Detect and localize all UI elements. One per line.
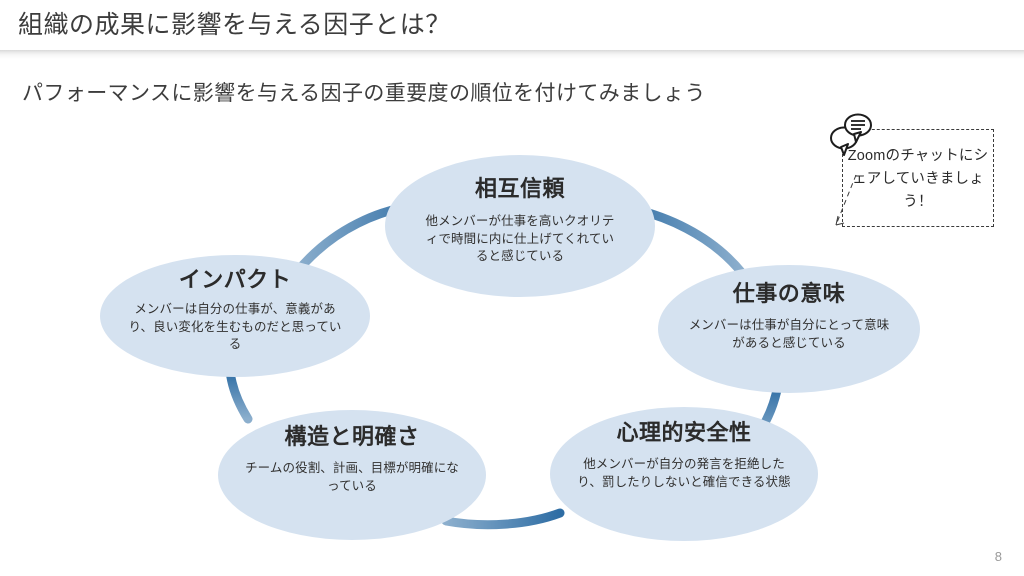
cycle-node-title: 構造と明確さ — [218, 424, 486, 450]
cycle-node-title: インパクト — [100, 267, 370, 293]
cycle-node-title: 心理的安全性 — [550, 420, 818, 446]
chat-bubbles-icon — [826, 111, 878, 161]
page-number: 8 — [995, 549, 1002, 564]
slide-subtitle: パフォーマンスに影響を与える因子の重要度の順位を付けてみましょう — [22, 79, 706, 109]
slide-canvas: 組織の成果に影響を与える因子とは？ パフォーマンスに影響を与える因子の重要度の順… — [0, 0, 1024, 576]
cycle-node-body: メンバーは自分の仕事が、意義があり、良い変化を生むものだと思っている — [100, 301, 370, 354]
cycle-node-psychological-safety[interactable]: 心理的安全性 他メンバーが自分の発言を拒絶したり、罰したりしないと確信できる状態 — [550, 407, 818, 541]
cycle-node-body: メンバーは仕事が自分にとって意味があると感じている — [658, 317, 920, 352]
callout-tail — [832, 171, 858, 233]
arc-structure-to-impact — [230, 371, 248, 419]
page-title: 組織の成果に影響を与える因子とは？ — [18, 8, 451, 42]
title-divider — [0, 50, 1024, 59]
cycle-node-structure-and-clarity[interactable]: 構造と明確さ チームの役割、計画、目標が明確になっている — [218, 410, 486, 540]
cycle-diagram: 相互信頼 他メンバーが仕事を高いクオリティで時間に内に仕上げてくれていると感じて… — [88, 145, 848, 555]
cycle-node-impact[interactable]: インパクト メンバーは自分の仕事が、意義があり、良い変化を生むものだと思っている — [100, 255, 370, 377]
cycle-node-title: 仕事の意味 — [658, 281, 920, 307]
cycle-node-body: 他メンバーが仕事を高いクオリティで時間に内に仕上げてくれていると感じている — [385, 213, 655, 266]
cycle-node-meaning-of-work[interactable]: 仕事の意味 メンバーは仕事が自分にとって意味があると感じている — [658, 265, 920, 393]
arc-safety-to-structure — [446, 513, 560, 525]
chat-callout: Zoomのチャットにシェアしていきましょう！ — [842, 129, 994, 227]
cycle-node-title: 相互信頼 — [385, 176, 655, 202]
cycle-node-body: チームの役割、計画、目標が明確になっている — [218, 460, 486, 495]
cycle-node-body: 他メンバーが自分の発言を拒絶したり、罰したりしないと確信できる状態 — [550, 456, 818, 491]
slide-title-bar: 組織の成果に影響を与える因子とは？ — [0, 0, 1024, 50]
cycle-node-mutual-trust[interactable]: 相互信頼 他メンバーが仕事を高いクオリティで時間に内に仕上げてくれていると感じて… — [385, 155, 655, 297]
